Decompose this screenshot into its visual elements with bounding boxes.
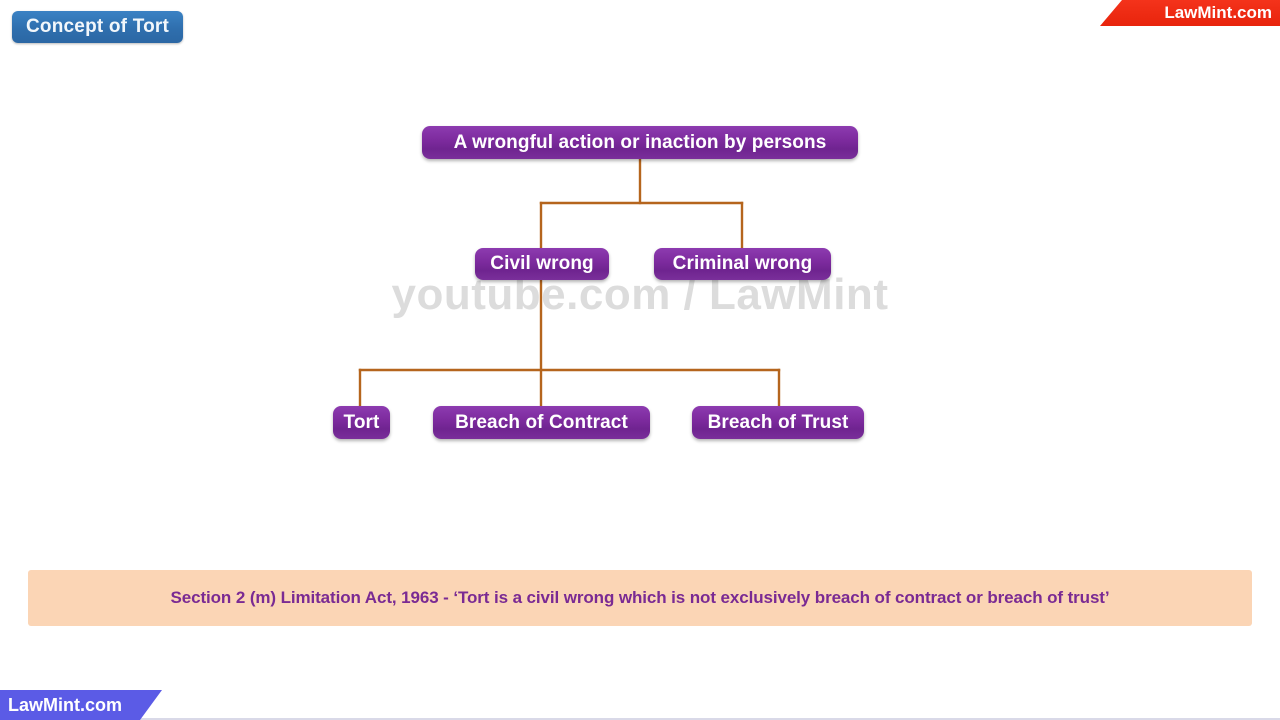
node-civil-wrong-label: Civil wrong [490, 253, 594, 275]
page-title-label: Concept of Tort [26, 16, 169, 38]
brand-banner-bottom: LawMint.com [0, 690, 162, 720]
brand-banner-top-label: LawMint.com [1164, 3, 1272, 23]
node-root[interactable]: A wrongful action or inaction by persons [422, 126, 858, 159]
node-civil-wrong[interactable]: Civil wrong [475, 248, 609, 280]
node-tort-label: Tort [344, 412, 380, 434]
node-breach-of-contract-label: Breach of Contract [455, 412, 628, 434]
node-tort[interactable]: Tort [333, 406, 390, 439]
caption-text: Section 2 (m) Limitation Act, 1963 - ‘To… [171, 588, 1110, 608]
node-breach-of-trust[interactable]: Breach of Trust [692, 406, 864, 439]
node-criminal-wrong[interactable]: Criminal wrong [654, 248, 831, 280]
node-breach-of-contract[interactable]: Breach of Contract [433, 406, 650, 439]
node-criminal-wrong-label: Criminal wrong [673, 253, 813, 275]
page-title: Concept of Tort [12, 11, 183, 43]
node-root-label: A wrongful action or inaction by persons [454, 132, 827, 154]
slide-canvas: youtube.com / LawMint A wrongful action … [0, 0, 1280, 720]
node-breach-of-trust-label: Breach of Trust [708, 412, 849, 434]
caption-bar: Section 2 (m) Limitation Act, 1963 - ‘To… [28, 570, 1252, 626]
brand-banner-bottom-label: LawMint.com [8, 695, 122, 716]
brand-banner-top: LawMint.com [1100, 0, 1280, 26]
